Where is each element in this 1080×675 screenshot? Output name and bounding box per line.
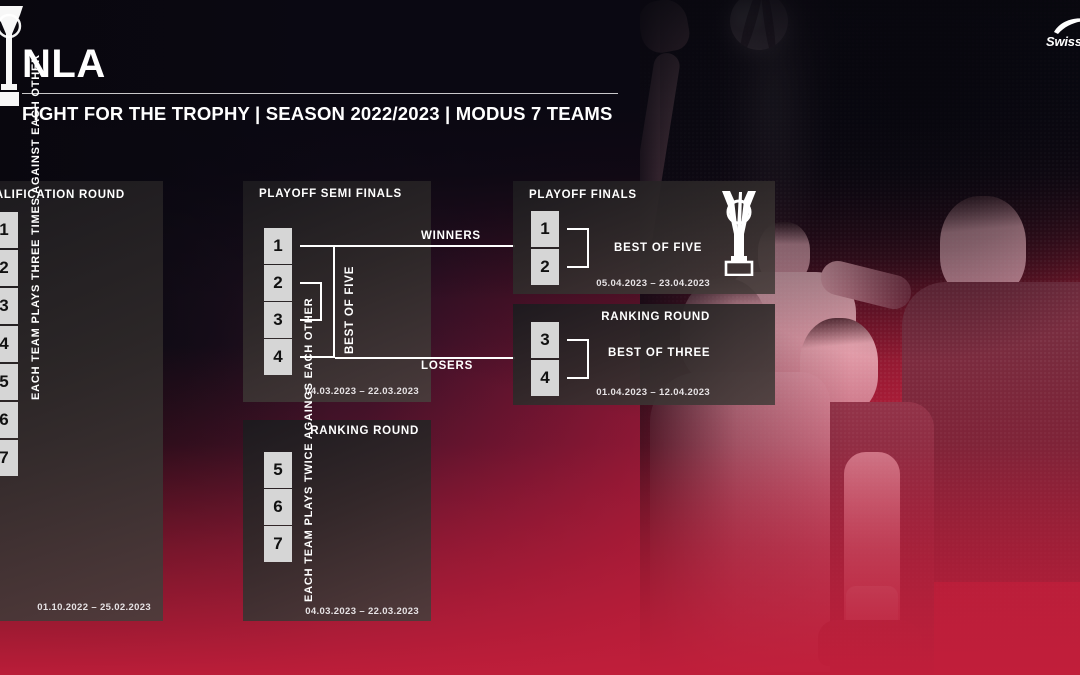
infographic-canvas: NLA FIGHT FOR THE TROPHY | SEASON 2022/2… [0, 0, 1080, 675]
winners-label: WINNERS [421, 230, 481, 242]
ranking-round-upper-bracket [567, 339, 589, 379]
ranking-round-upper-date: 01.04.2023 – 12.04.2023 [513, 387, 710, 398]
playoff-semifinals-title: PLAYOFF SEMI FINALS [259, 188, 402, 200]
seed-box: 7 [264, 526, 292, 562]
seed-box: 6 [264, 489, 292, 525]
seed-box: 7 [0, 440, 18, 476]
playoff-finals-date: 05.04.2023 – 23.04.2023 [513, 278, 710, 289]
qualification-round-date: 01.10.2022 – 25.02.2023 [0, 602, 151, 613]
trophy-cup-icon [712, 190, 766, 276]
finals-format: BEST OF FIVE [614, 242, 702, 254]
losers-label: LOSERS [421, 360, 473, 372]
playoff-finals-title: PLAYOFF FINALS [529, 189, 637, 201]
swiss-volley-swoosh-icon [1052, 16, 1080, 36]
seed-box: 4 [264, 339, 292, 375]
qualification-round-panel [0, 181, 163, 621]
ranking-round-upper-format: BEST OF THREE [608, 347, 710, 359]
finals-bracket [567, 228, 589, 268]
ranking-round-lower-title: RANKING ROUND [243, 425, 419, 437]
seed-box: 3 [531, 322, 559, 358]
seed-box: 2 [0, 250, 18, 286]
winners-connector-line [335, 245, 515, 247]
seed-box: 5 [264, 452, 292, 488]
seed-box: 1 [264, 228, 292, 264]
seed-box: 1 [531, 211, 559, 247]
qualification-round-title: QUALIFICATION ROUND [0, 189, 163, 201]
seed-box: 1 [0, 212, 18, 248]
playoff-semifinals-date: 04.03.2023 – 22.03.2023 [243, 386, 419, 397]
ranking-round-lower-date: 04.03.2023 – 22.03.2023 [243, 606, 419, 617]
qualification-round-note: EACH TEAM PLAYS THREE TIMES AGAINST EACH… [30, 210, 42, 400]
header-text-block: NLA FIGHT FOR THE TROPHY | SEASON 2022/2… [22, 44, 662, 125]
seed-box: 3 [264, 302, 292, 338]
seed-box: 2 [264, 265, 292, 301]
ranking-round-lower-note: EACH TEAM PLAYS TWICE AGAINGS EACH OTHER [303, 450, 315, 602]
page-header: NLA FIGHT FOR THE TROPHY | SEASON 2022/2… [0, 0, 700, 140]
page-subtitle: FIGHT FOR THE TROPHY | SEASON 2022/2023 … [22, 103, 662, 125]
seed-box: 3 [0, 288, 18, 324]
title-divider [22, 93, 618, 94]
seed-box: 5 [0, 364, 18, 400]
losers-connector-line [335, 357, 515, 359]
page-title: NLA [22, 44, 662, 93]
semifinals-format: BEST OF FIVE [344, 262, 356, 354]
sponsor-name: Swiss [1046, 34, 1080, 49]
sponsor-logo: Swiss [1046, 14, 1080, 56]
seed-box: 4 [0, 326, 18, 362]
seed-box: 6 [0, 402, 18, 438]
